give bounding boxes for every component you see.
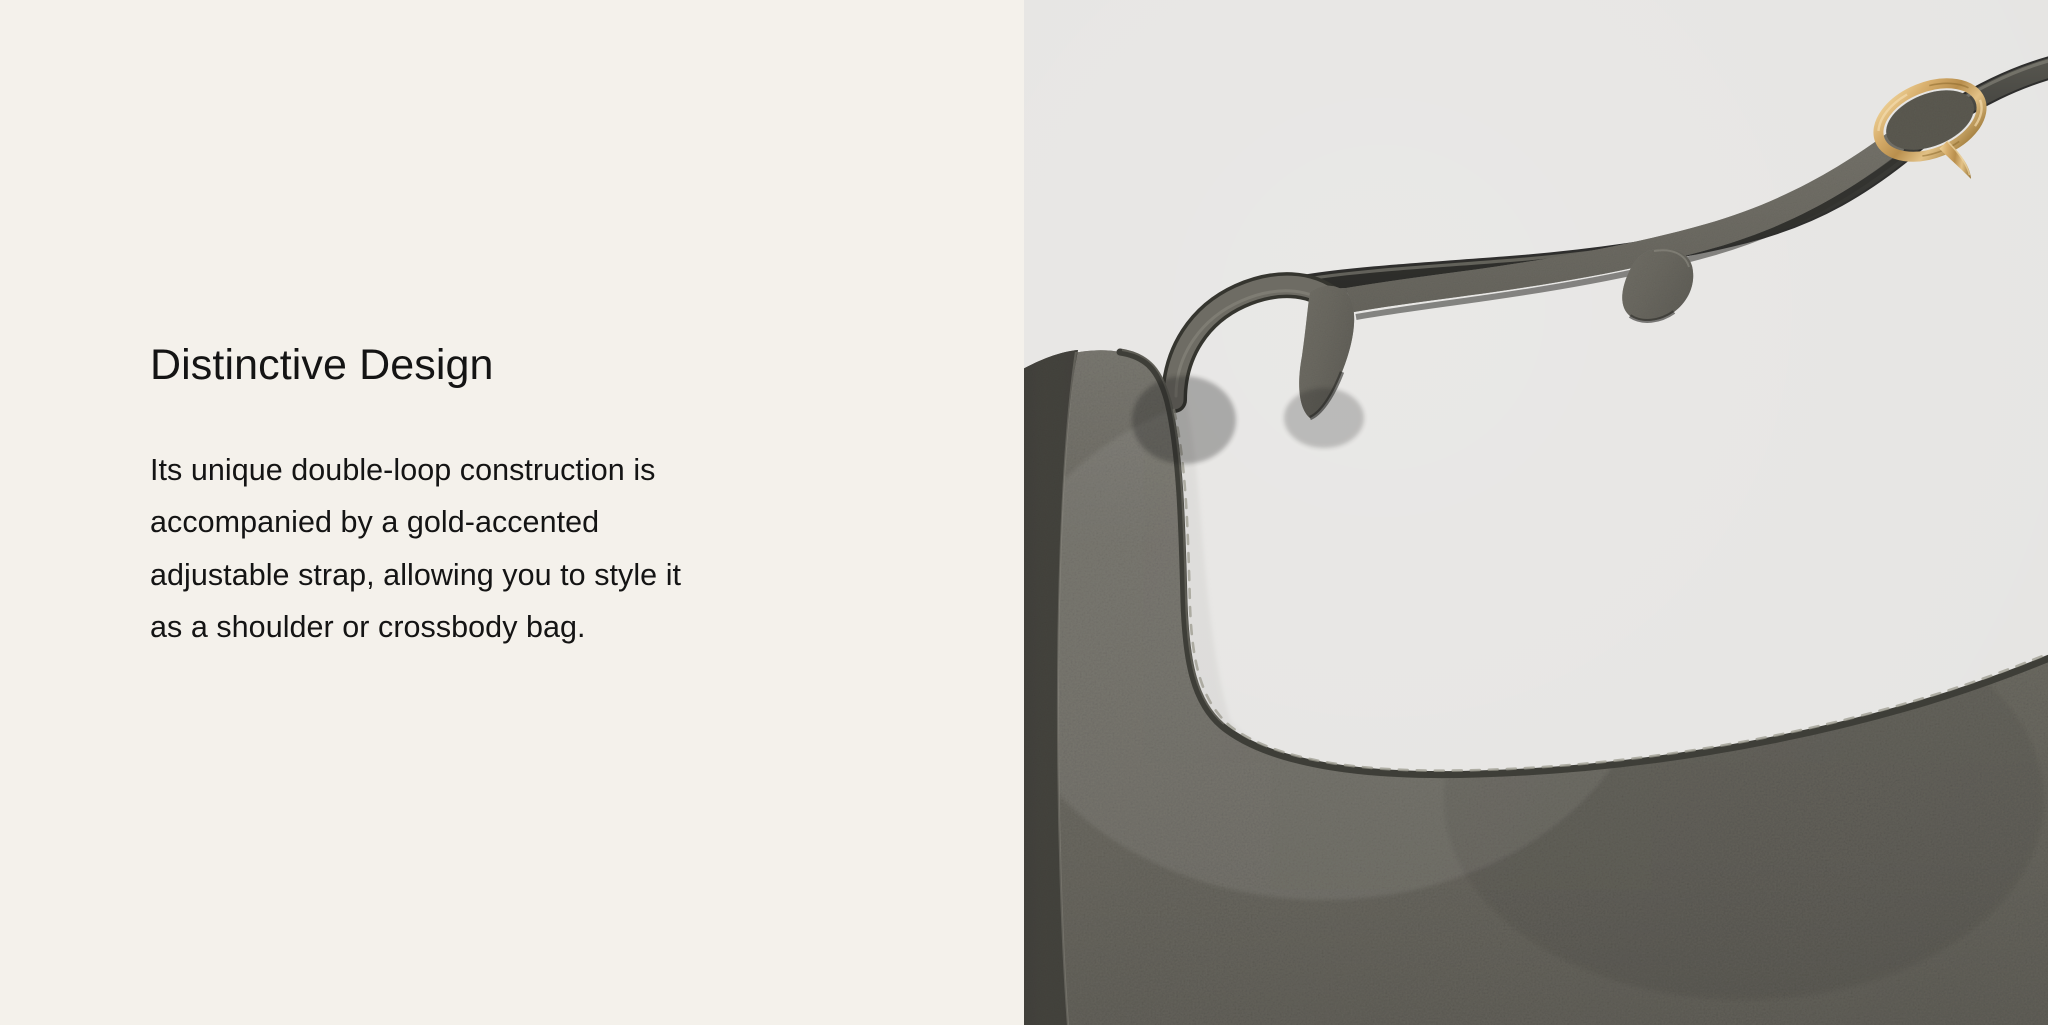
product-feature-section: Distinctive Design Its unique double-loo…: [0, 0, 2048, 1025]
product-image-panel: [1024, 0, 2048, 1025]
loop-body-shadow: [1132, 376, 1236, 464]
copy-block: Distinctive Design Its unique double-loo…: [150, 340, 910, 654]
feature-body-text: Its unique double-loop construction is a…: [150, 391, 710, 654]
copy-panel: Distinctive Design Its unique double-loo…: [0, 0, 1024, 1025]
feature-heading: Distinctive Design: [150, 340, 910, 391]
product-photo-leather-bag: [1024, 0, 2048, 1025]
